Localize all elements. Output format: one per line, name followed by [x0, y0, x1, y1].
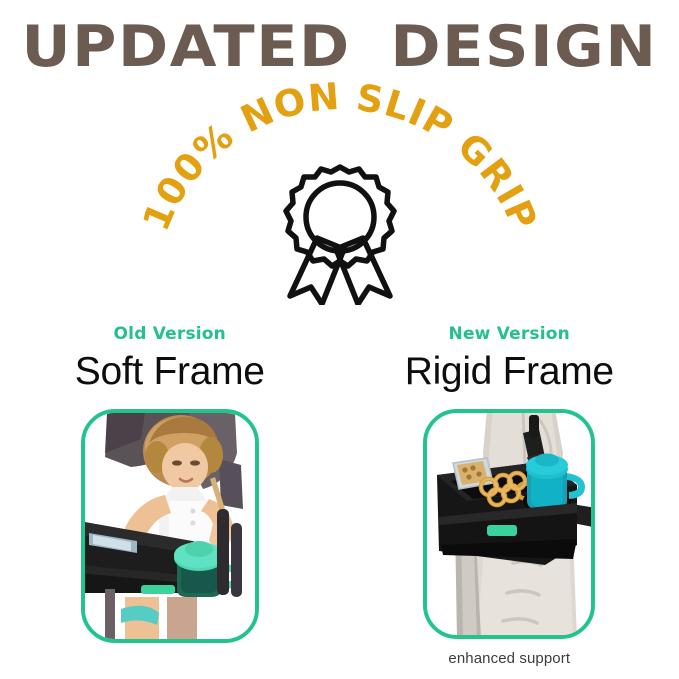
comparison-section: Old Version Soft Frame	[0, 322, 679, 667]
new-version-illustration	[427, 413, 591, 635]
comparison-column-new: New Version Rigid Frame	[340, 322, 679, 667]
photo-frame-new[interactable]	[423, 409, 595, 639]
non-slip-grip-badge-block: 100% NON SLIP GRIP	[0, 100, 679, 315]
comparison-column-old: Old Version Soft Frame	[0, 322, 340, 667]
version-tag-old: Old Version	[0, 322, 340, 346]
headline-container: UPDATED DESIGN	[0, 18, 679, 78]
version-tag-new: New Version	[340, 322, 679, 346]
frame-name-old: Soft Frame	[0, 348, 340, 396]
photo-old-version	[85, 413, 255, 639]
photo-new-version	[427, 413, 591, 635]
old-version-illustration	[85, 413, 255, 639]
frame-name-new: Rigid Frame	[340, 348, 679, 396]
page-title: UPDATED DESIGN	[0, 18, 679, 78]
photo-frame-old[interactable]	[81, 409, 259, 643]
award-ribbon-icon	[278, 163, 402, 305]
caption-new: enhanced support	[340, 650, 679, 667]
